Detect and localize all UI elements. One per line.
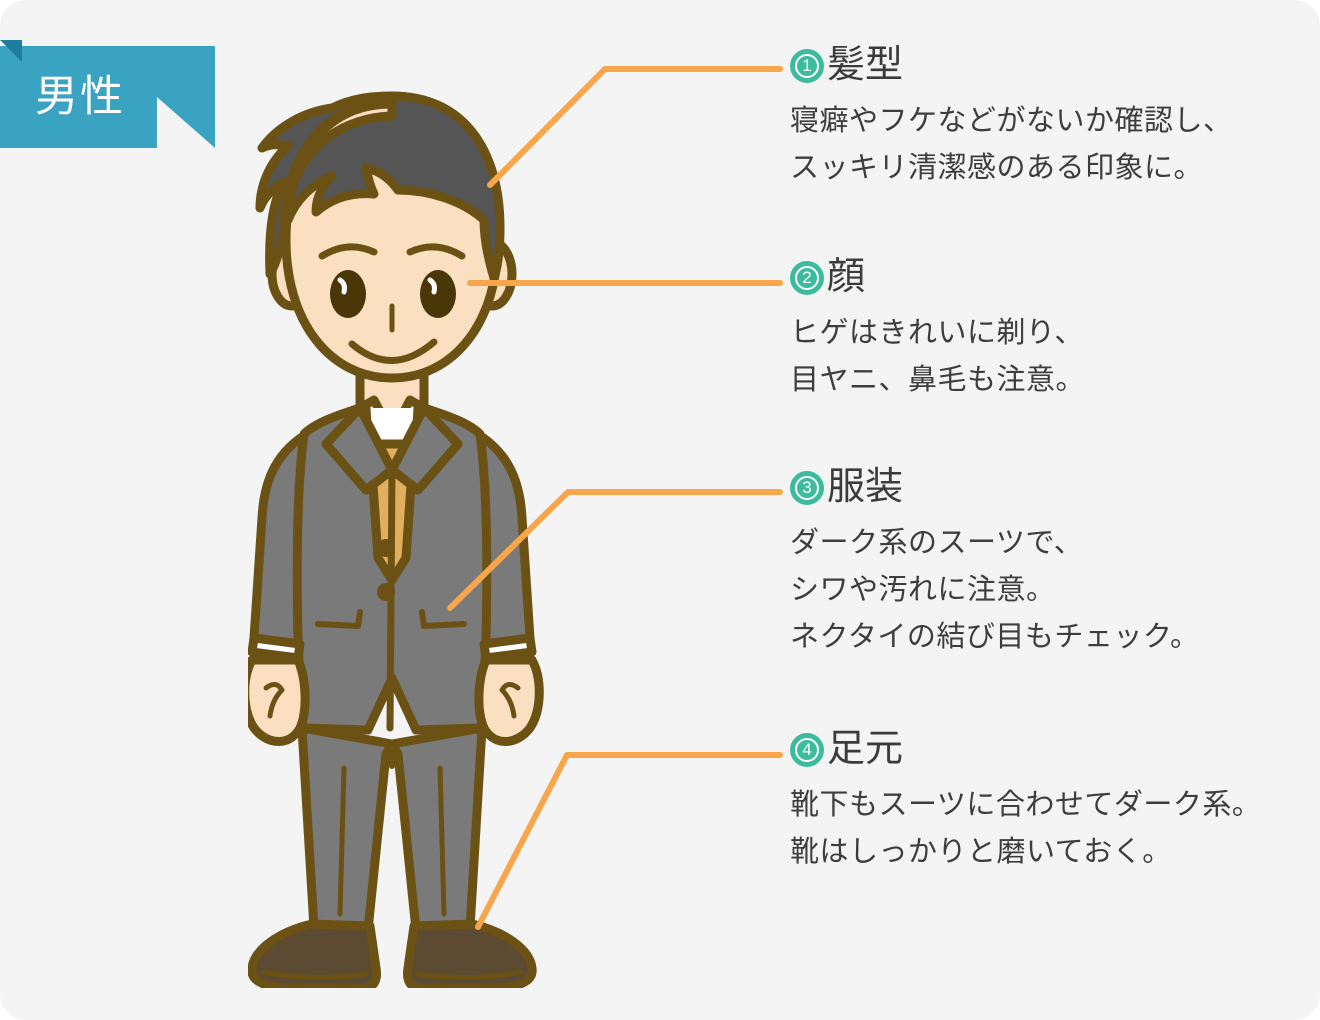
note-4-body: 靴下もスーツに合わせてダーク系。 靴はしっかりと磨いておく。 <box>790 782 1290 876</box>
eye-left <box>330 270 366 318</box>
note-item-2: 2 顔 ヒゲはきれいに剃り、 目ヤニ、鼻毛も注意。 <box>790 256 1290 404</box>
note-3-title: 服装 <box>827 466 903 510</box>
note-4-line-2: 靴はしっかりと磨いておく。 <box>790 829 1290 876</box>
note-1-body: 寝癖やフケなどがないか確認し、 スッキリ清潔感のある印象に。 <box>790 98 1290 192</box>
note-item-4: 4 足元 靴下もスーツに合わせてダーク系。 靴はしっかりと磨いておく。 <box>790 728 1290 876</box>
note-2-line-2: 目ヤニ、鼻毛も注意。 <box>790 357 1290 404</box>
note-2-line-1: ヒゲはきれいに剃り、 <box>790 310 1290 357</box>
infographic-canvas: 男性 <box>0 0 1320 1020</box>
note-3-line-3: ネクタイの結び目もチェック。 <box>790 614 1290 661</box>
ribbon-label: 男性 <box>0 46 160 148</box>
gender-ribbon: 男性 <box>0 40 215 148</box>
jacket-button-top <box>377 539 395 557</box>
note-item-1: 1 髪型 寝癖やフケなどがないか確認し、 スッキリ清潔感のある印象に。 <box>790 44 1290 192</box>
note-4-heading: 4 足元 <box>790 728 1290 772</box>
note-2-heading: 2 顔 <box>790 256 1290 300</box>
number-badge-4: 4 <box>790 733 824 767</box>
note-2-body: ヒゲはきれいに剃り、 目ヤニ、鼻毛も注意。 <box>790 310 1290 404</box>
number-badge-3: 3 <box>790 471 824 505</box>
note-2-title: 顔 <box>827 256 865 300</box>
jacket-button-bottom <box>377 583 395 601</box>
note-3-line-2: シワや汚れに注意。 <box>790 567 1290 614</box>
note-1-heading: 1 髪型 <box>790 44 1290 88</box>
note-1-line-2: スッキリ清潔感のある印象に。 <box>790 145 1290 192</box>
note-item-3: 3 服装 ダーク系のスーツで、 シワや汚れに注意。 ネクタイの結び目もチェック。 <box>790 466 1290 661</box>
note-3-heading: 3 服装 <box>790 466 1290 510</box>
businessman-illustration <box>248 78 558 988</box>
note-4-line-1: 靴下もスーツに合わせてダーク系。 <box>790 782 1290 829</box>
trouser-left <box>302 728 392 930</box>
number-badge-1: 1 <box>790 49 824 83</box>
note-3-line-1: ダーク系のスーツで、 <box>790 520 1290 567</box>
trouser-right <box>392 728 482 930</box>
note-3-body: ダーク系のスーツで、 シワや汚れに注意。 ネクタイの結び目もチェック。 <box>790 520 1290 661</box>
note-1-line-1: 寝癖やフケなどがないか確認し、 <box>790 98 1290 145</box>
eye-right <box>420 270 456 318</box>
cuff-right <box>484 638 532 658</box>
note-1-title: 髪型 <box>827 44 903 88</box>
note-4-title: 足元 <box>827 728 903 772</box>
cuff-left <box>252 638 300 658</box>
number-badge-2: 2 <box>790 261 824 295</box>
